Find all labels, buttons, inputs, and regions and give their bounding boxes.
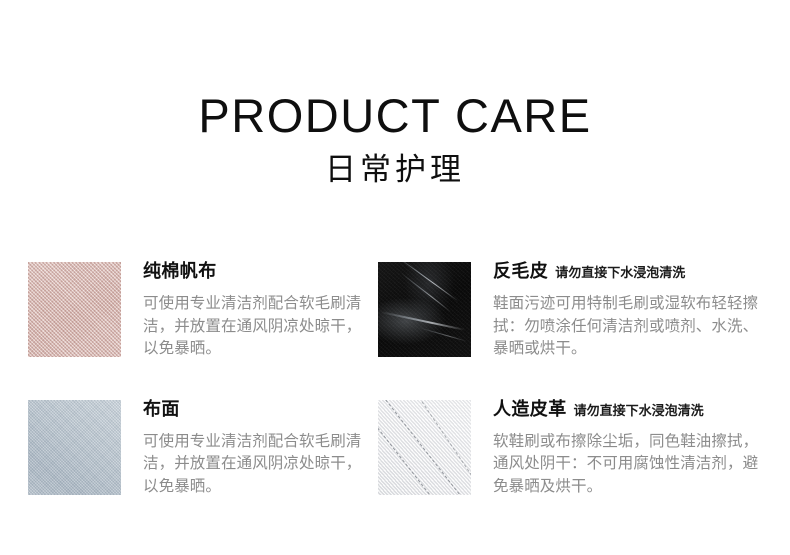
care-heading-line: 反毛皮请勿直接下水浸泡清洗 (493, 263, 770, 281)
care-body-text: 软鞋刷或布擦除尘垢，同色鞋油擦拭，通风处阴干：不可用腐蚀性清洁剂，避免暴晒及烘干… (493, 430, 770, 498)
care-instructions-grid: 纯棉帆布 可使用专业清洁剂配合软毛刷清洁，并放置在通风阴凉处晾干，以免暴晒。 反… (0, 262, 790, 497)
care-item-cotton-canvas: 纯棉帆布 可使用专业清洁剂配合软毛刷清洁，并放置在通风阴凉处晾干，以免暴晒。 (0, 262, 370, 360)
synthetic-leather-swatch (378, 400, 471, 495)
page-header: PRODUCT CARE 日常护理 (0, 0, 790, 188)
fabric-swatch (28, 400, 121, 495)
page-title-english: PRODUCT CARE (0, 0, 790, 139)
care-heading-line: 纯棉帆布 (143, 263, 370, 281)
care-row: 布面 可使用专业清洁剂配合软毛刷清洁，并放置在通风阴凉处晾干，以免暴晒。 人造皮… (0, 400, 790, 498)
care-item-text: 布面 可使用专业清洁剂配合软毛刷清洁，并放置在通风阴凉处晾干，以免暴晒。 (121, 400, 370, 498)
care-body-text: 可使用专业清洁剂配合软毛刷清洁，并放置在通风阴凉处晾干，以免暴晒。 (143, 430, 370, 498)
care-body-text: 鞋面污迹可用特制毛刷或湿软布轻轻擦拭：勿喷涂任何清洁剂或喷剂、水洗、暴晒或烘干。 (493, 292, 770, 360)
care-item-text: 人造皮革请勿直接下水浸泡清洗 软鞋刷或布擦除尘垢，同色鞋油擦拭，通风处阴干：不可… (471, 400, 770, 498)
care-item-text: 反毛皮请勿直接下水浸泡清洗 鞋面污迹可用特制毛刷或湿软布轻轻擦拭：勿喷涂任何清洁… (471, 262, 770, 360)
care-item-suede: 反毛皮请勿直接下水浸泡清洗 鞋面污迹可用特制毛刷或湿软布轻轻擦拭：勿喷涂任何清洁… (370, 262, 770, 360)
care-body-text: 可使用专业清洁剂配合软毛刷清洁，并放置在通风阴凉处晾干，以免暴晒。 (143, 292, 370, 360)
suede-swatch (378, 262, 471, 357)
care-heading-label: 人造皮革 (493, 399, 567, 420)
page-title-chinese: 日常护理 (0, 139, 790, 188)
care-heading-label: 纯棉帆布 (143, 261, 217, 282)
care-heading-line: 人造皮革请勿直接下水浸泡清洗 (493, 401, 770, 419)
care-item-text: 纯棉帆布 可使用专业清洁剂配合软毛刷清洁，并放置在通风阴凉处晾干，以免暴晒。 (121, 262, 370, 360)
cotton-canvas-swatch (28, 262, 121, 357)
care-heading-line: 布面 (143, 401, 370, 419)
care-heading-label: 布面 (143, 399, 180, 420)
care-item-fabric: 布面 可使用专业清洁剂配合软毛刷清洁，并放置在通风阴凉处晾干，以免暴晒。 (0, 400, 370, 498)
care-item-synthetic-leather: 人造皮革请勿直接下水浸泡清洗 软鞋刷或布擦除尘垢，同色鞋油擦拭，通风处阴干：不可… (370, 400, 770, 498)
care-row: 纯棉帆布 可使用专业清洁剂配合软毛刷清洁，并放置在通风阴凉处晾干，以免暴晒。 反… (0, 262, 790, 360)
care-note-label: 请勿直接下水浸泡清洗 (555, 266, 685, 281)
care-note-label: 请勿直接下水浸泡清洗 (574, 404, 704, 419)
care-heading-label: 反毛皮 (493, 261, 548, 282)
suede-scratch-line (395, 262, 459, 302)
